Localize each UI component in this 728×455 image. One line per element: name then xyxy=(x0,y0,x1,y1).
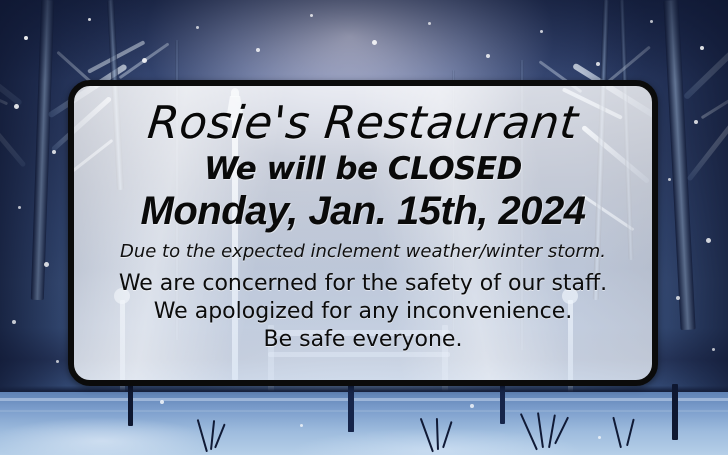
closure-notice-panel: Rosie's Restaurant We will be CLOSED Mon… xyxy=(68,80,658,386)
closure-reason: Due to the expected inclement weather/wi… xyxy=(74,243,652,261)
message-line-2: We apologized for any inconvenience. xyxy=(74,298,652,326)
page-title: Rosie's Restaurant xyxy=(72,100,655,145)
closure-date: Monday, Jan. 15th, 2024 xyxy=(74,191,652,231)
message-line-3: Be safe everyone. xyxy=(74,326,652,354)
snow-ground xyxy=(0,392,728,455)
winter-closure-poster: Rosie's Restaurant We will be CLOSED Mon… xyxy=(0,0,728,455)
fence-rail-lower xyxy=(0,410,728,412)
closed-headline: We will be CLOSED xyxy=(74,154,652,185)
message-line-1: We are concerned for the safety of our s… xyxy=(74,270,652,298)
notice-content: Rosie's Restaurant We will be CLOSED Mon… xyxy=(74,86,652,354)
fence-rail-upper xyxy=(0,398,728,401)
closure-message: We are concerned for the safety of our s… xyxy=(74,270,652,354)
